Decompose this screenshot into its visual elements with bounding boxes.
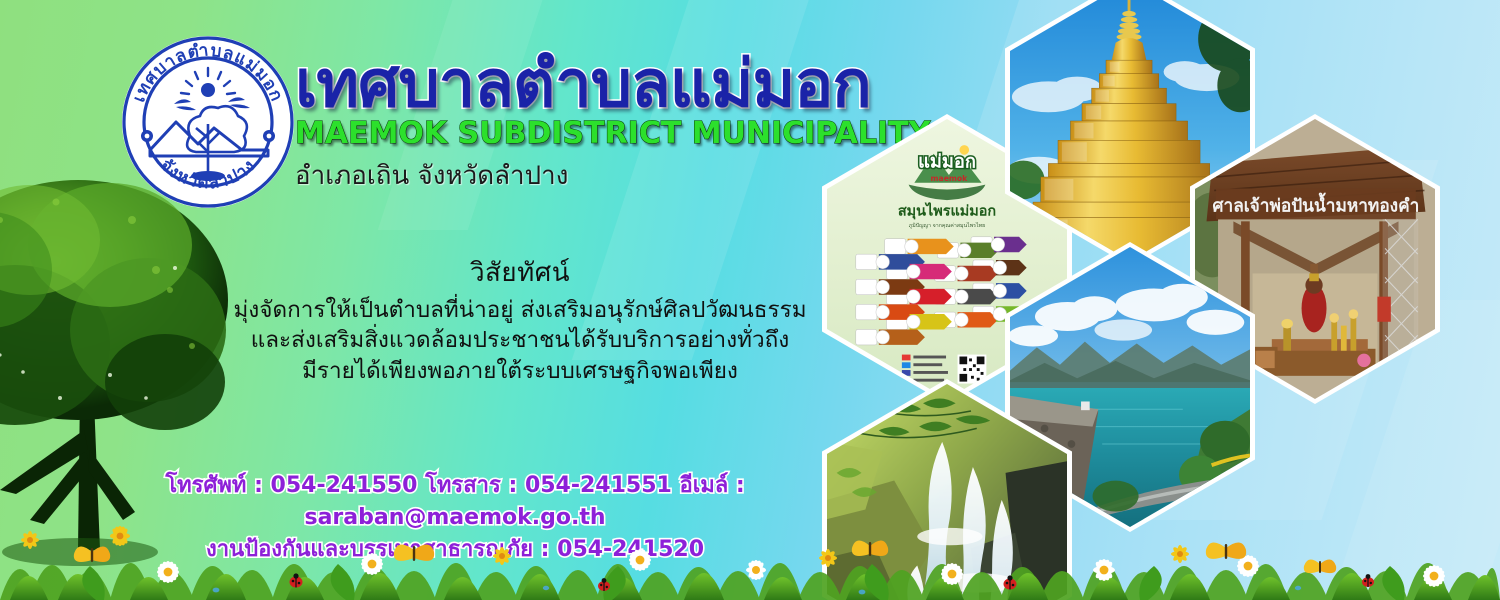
poster-brand-text: แม่มอก xyxy=(918,151,976,172)
municipality-seal-logo: เทศบาลตำบลแม่มอก จังหวัดลำปาง xyxy=(118,32,298,212)
yellow-flower-group xyxy=(21,525,1189,567)
shrine-caption: ศาลเจ้าพ่อปันน้ำมหาทองคำ xyxy=(1213,193,1420,217)
pagoda-caption: วัดพ xyxy=(1189,0,1212,1)
vision-line-2: และส่งเสริมสิ่งแวดล้อมประชาชนได้รับบริกา… xyxy=(170,325,870,355)
poster-title: สมุนไพรแม่มอก xyxy=(898,202,996,220)
poster-subtitle: ภูมิปัญญา จากคุณค่าสมุนไพรไทย xyxy=(909,221,985,229)
vision-heading: วิสัยทัศน์ xyxy=(170,252,870,293)
grass-flower-border xyxy=(0,508,1500,600)
svg-text:maemok: maemok xyxy=(931,174,969,183)
vision-statement: วิสัยทัศน์ มุ่งจัดการให้เป็นตำบลที่น่าอย… xyxy=(170,252,870,386)
municipality-banner: เทศบาลตำบลแม่มอก จังหวัดลำปาง xyxy=(0,0,1500,600)
vision-line-1: มุ่งจัดการให้เป็นตำบลที่น่าอยู่ ส่งเสริม… xyxy=(170,295,870,325)
photo-hex-cluster: แม่มอก maemok สมุนไพรแม่มอก ภูมิปัญญา จา… xyxy=(800,0,1500,554)
butterfly-group xyxy=(74,540,1336,573)
vision-line-3: มีรายได้เพียงพอภายใต้ระบบเศรษฐกิจพอเพียง xyxy=(170,356,870,386)
